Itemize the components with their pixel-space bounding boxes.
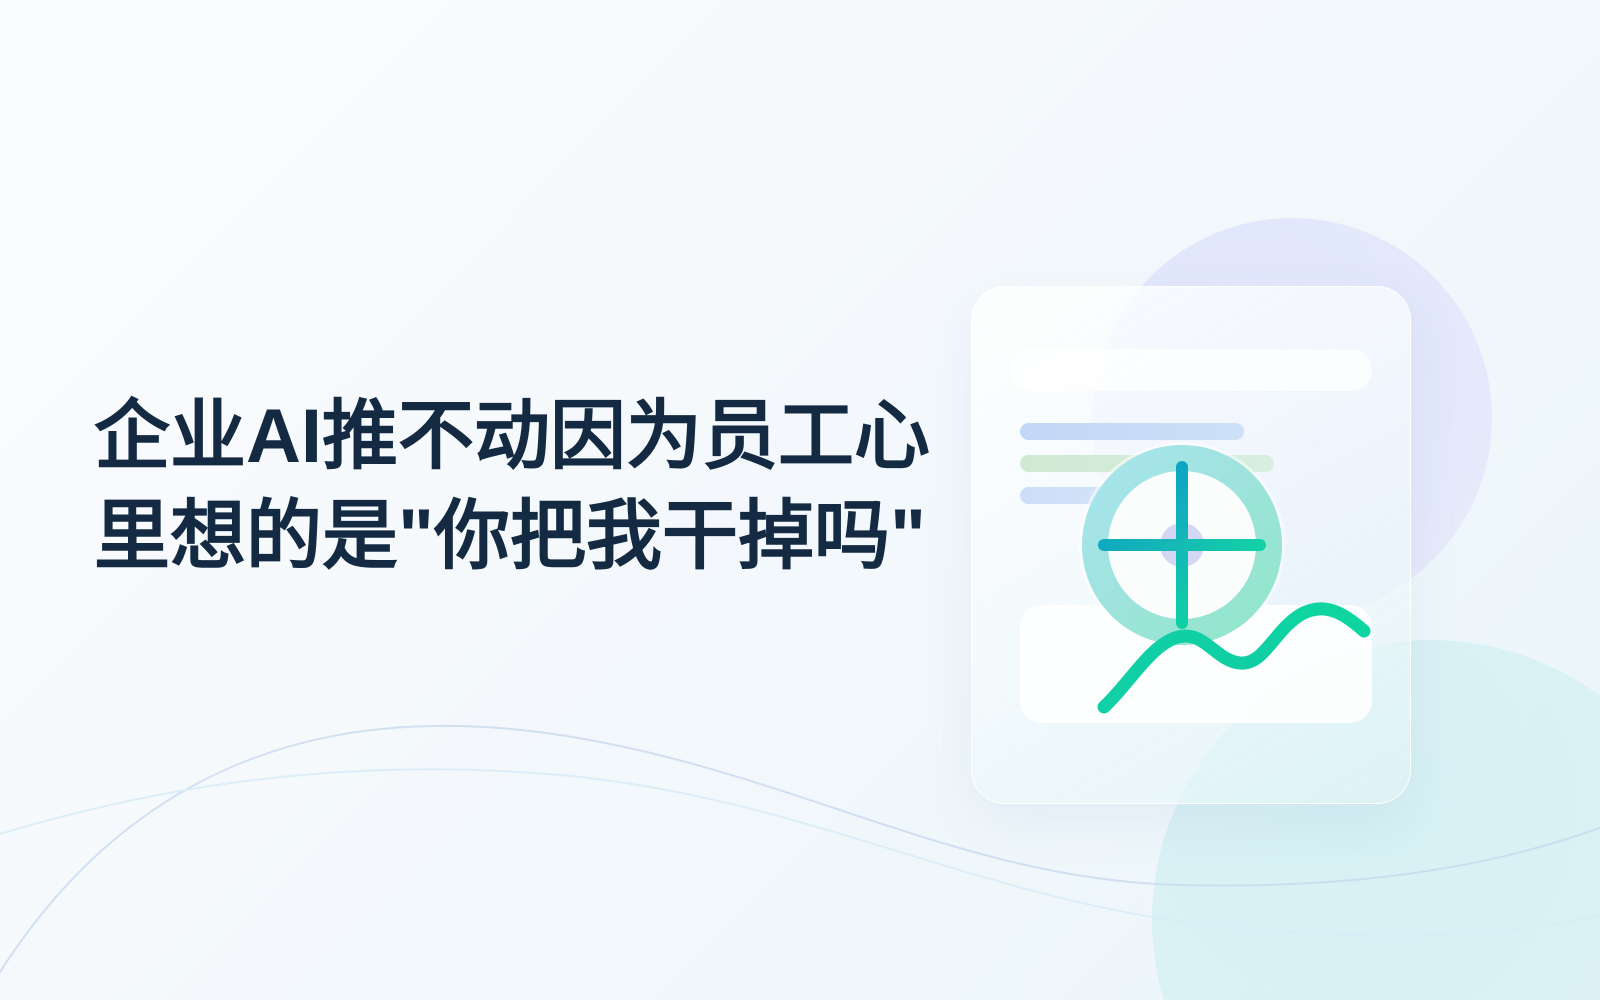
crosshair-horizontal-bar (1098, 539, 1266, 551)
title-placeholder-bar (1010, 349, 1372, 391)
sparkline-chart-icon (1092, 587, 1392, 727)
poster-canvas: 企业AI推不动因为员工心 里想的是"你把我干掉吗" (0, 0, 1600, 1000)
page-title-line-1: 企业AI推不动因为员工心 (94, 387, 914, 487)
text-line-blue (1020, 423, 1244, 440)
document-card (971, 286, 1411, 804)
page-title: 企业AI推不动因为员工心 里想的是"你把我干掉吗" (94, 387, 914, 587)
page-title-line-2: 里想的是"你把我干掉吗" (94, 487, 914, 587)
sparkline-path (1104, 609, 1364, 707)
